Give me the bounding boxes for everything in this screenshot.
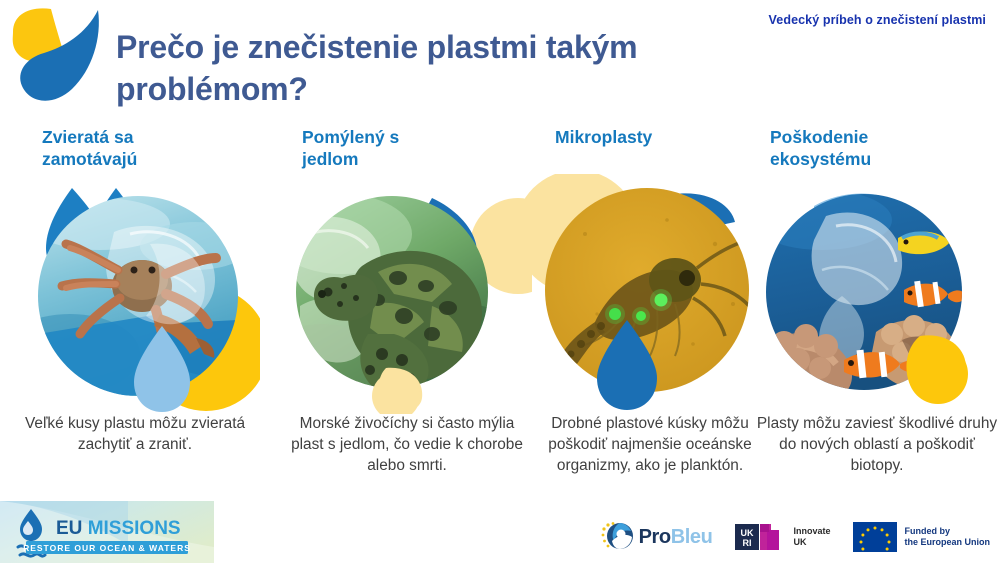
eu-funding-line2: the European Union: [905, 537, 991, 548]
column-illustration: [525, 174, 775, 414]
crab-in-plastic-collage-icon: [10, 174, 260, 414]
probleu-logo: ProBleu: [600, 521, 713, 553]
ukri-text-uk: UK: [741, 528, 754, 538]
eu-missions-banner-icon: EU MISSIONS RESTORE OUR OCEAN & WATERS: [0, 501, 214, 563]
column-caption: Veľké kusy plastu môžu zvieratá zachytiť…: [10, 414, 260, 456]
eu-missions-title: EU MISSIONS: [56, 518, 181, 539]
innovate-uk-line2: UK: [793, 537, 830, 548]
eu-missions-logo: EU MISSIONS RESTORE OUR OCEAN & WATERS: [0, 501, 214, 563]
column-entanglement: Zvieratá sa zamotávajú: [10, 126, 260, 516]
column-heading: Pomýlený s jedlom: [282, 126, 452, 171]
column-illustration: [282, 174, 532, 414]
columns-container: Zvieratá sa zamotávajú: [0, 126, 1000, 516]
column-caption: Drobné plastové kúsky môžu poškodiť najm…: [525, 414, 775, 476]
probleu-word-bleu: Bleu: [671, 526, 713, 548]
coral-reef-plastic-collage-icon: [752, 174, 1000, 414]
column-heading: Mikroplasty: [525, 126, 745, 148]
ukri-innovate-uk-logo: UK RI Innovate UK: [734, 522, 830, 552]
turtle-with-plastic-collage-icon: [282, 174, 532, 414]
deck-kicker: Vedecký príbeh o znečistení plastmi: [769, 13, 986, 27]
column-ecosystem-damage: Poškodenie ekosystému: [752, 126, 1000, 516]
eu-funding-line1: Funded by: [905, 526, 991, 537]
brandmark-logo: [6, 4, 110, 108]
column-illustration: [752, 174, 1000, 414]
ukri-mark-icon: UK RI: [734, 522, 786, 552]
column-heading: Zvieratá sa zamotávajú: [10, 126, 202, 171]
column-caption: Morské živočíchy si často mýlia plast s …: [282, 414, 532, 476]
eu-funding-text: Funded by the European Union: [905, 526, 991, 548]
ukri-text-ri: RI: [743, 538, 752, 548]
plankton-microplastics-collage-icon: [525, 174, 775, 414]
probleu-globe-stars-icon: [600, 521, 634, 553]
column-microplastics: Mikroplasty: [525, 126, 775, 516]
probleu-wordmark: ProBleu: [639, 526, 713, 549]
page-title: Prečo je znečistenie plastmi takým probl…: [116, 26, 766, 110]
column-heading: Poškodenie ekosystému: [752, 126, 950, 171]
innovate-uk-text: Innovate UK: [793, 526, 830, 548]
probleu-word-pro: Pro: [639, 526, 671, 548]
eu-funding-logo: Funded by the European Union: [853, 522, 991, 552]
innovate-uk-line1: Innovate: [793, 526, 830, 537]
column-caption: Plasty môžu zaviesť škodlivé druhy do no…: [752, 414, 1000, 476]
yellow-blue-leaf-droplet-icon: [6, 4, 110, 108]
partner-logos: ProBleu UK RI Innovate UK: [600, 517, 990, 557]
eu-missions-subtitle: RESTORE OUR OCEAN & WATERS: [23, 543, 191, 553]
eu-flag-icon: [853, 522, 897, 552]
column-illustration: [10, 174, 260, 414]
slide-root: Vedecký príbeh o znečistení plastmi Preč…: [0, 0, 1000, 563]
column-mistaken-for-food: Pomýlený s jedlom: [282, 126, 532, 516]
